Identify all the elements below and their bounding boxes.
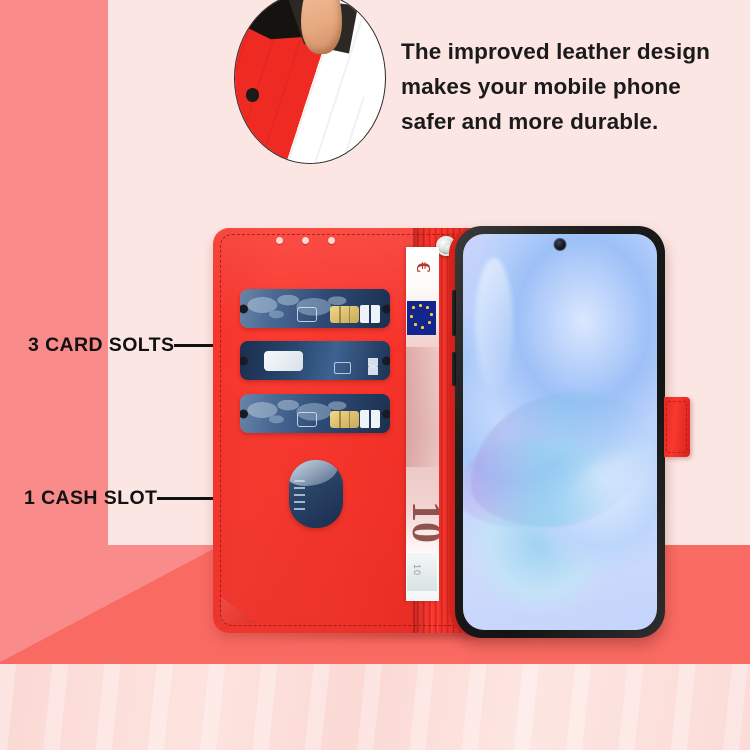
- screen-glare: [475, 258, 514, 393]
- inset-finger: [301, 0, 342, 54]
- euro-banknote: € EURO 10 10: [406, 247, 439, 601]
- card-signature-strip: [264, 351, 303, 371]
- punch-hole-front-camera: [555, 239, 566, 250]
- card-emv-chip: [330, 306, 359, 323]
- banknote-color-band: [406, 347, 439, 467]
- inset-camera-hole: [246, 88, 260, 102]
- inset-circle-frame: [234, 0, 386, 164]
- cash-pocket-texture: [294, 480, 305, 511]
- credit-card-back-middle: [240, 341, 390, 380]
- headline-line-3: safer and more durable.: [401, 104, 741, 139]
- product-feature-image: The improved leather design makes your m…: [0, 0, 750, 750]
- callout-card-slots-label: 3 CARD SOLTS: [28, 334, 174, 357]
- flap-dot-1: [276, 237, 283, 244]
- volume-rocker-button: [452, 290, 456, 336]
- card-brand-logo: [360, 305, 380, 323]
- banknote-security-strip: 10: [407, 553, 437, 591]
- credit-card-front-top: [240, 289, 390, 328]
- flap-decorative-dots: [276, 237, 335, 244]
- phone-frame: [455, 226, 665, 638]
- headline-line-2: makes your mobile phone: [401, 69, 741, 104]
- callout-cash-slot-label: 1 CASH SLOT: [24, 487, 157, 510]
- card-emv-chip: [330, 411, 359, 428]
- banknote-denomination: 10: [406, 501, 439, 541]
- leather-peel-detail-inset: [234, 0, 386, 164]
- banknote-micro-text: EURO: [406, 413, 439, 435]
- cash-slot-pocket: [289, 460, 343, 528]
- headline-line-1: The improved leather design: [401, 34, 741, 69]
- banknote-eu-flag: [407, 301, 436, 335]
- card-hologram: [297, 412, 317, 427]
- phone-screen: [463, 234, 657, 630]
- card-detail-dots: [368, 358, 379, 374]
- card-detail-box: [334, 362, 351, 374]
- wallet-case: € EURO 10 10: [213, 228, 475, 633]
- banknote-strip-value: 10: [412, 564, 422, 576]
- flap-dot-3: [328, 237, 335, 244]
- closure-strap-tab: [664, 397, 690, 457]
- card-slot-edge-right: [382, 409, 390, 418]
- card-slot-edge-right: [382, 304, 390, 313]
- background-foreground-stripes: [0, 664, 750, 750]
- headline-text: The improved leather design makes your m…: [401, 34, 741, 139]
- flap-dot-2: [302, 237, 309, 244]
- credit-card-front-bottom: [240, 394, 390, 433]
- background-left-band: [0, 0, 108, 600]
- card-brand-logo: [360, 410, 380, 428]
- banknote-currency-symbol: €: [408, 262, 434, 286]
- card-slot-edge-right: [382, 356, 390, 365]
- power-button: [452, 352, 456, 386]
- card-hologram: [297, 307, 317, 322]
- smartphone: [455, 226, 665, 638]
- background-floor-wedge: [0, 545, 230, 667]
